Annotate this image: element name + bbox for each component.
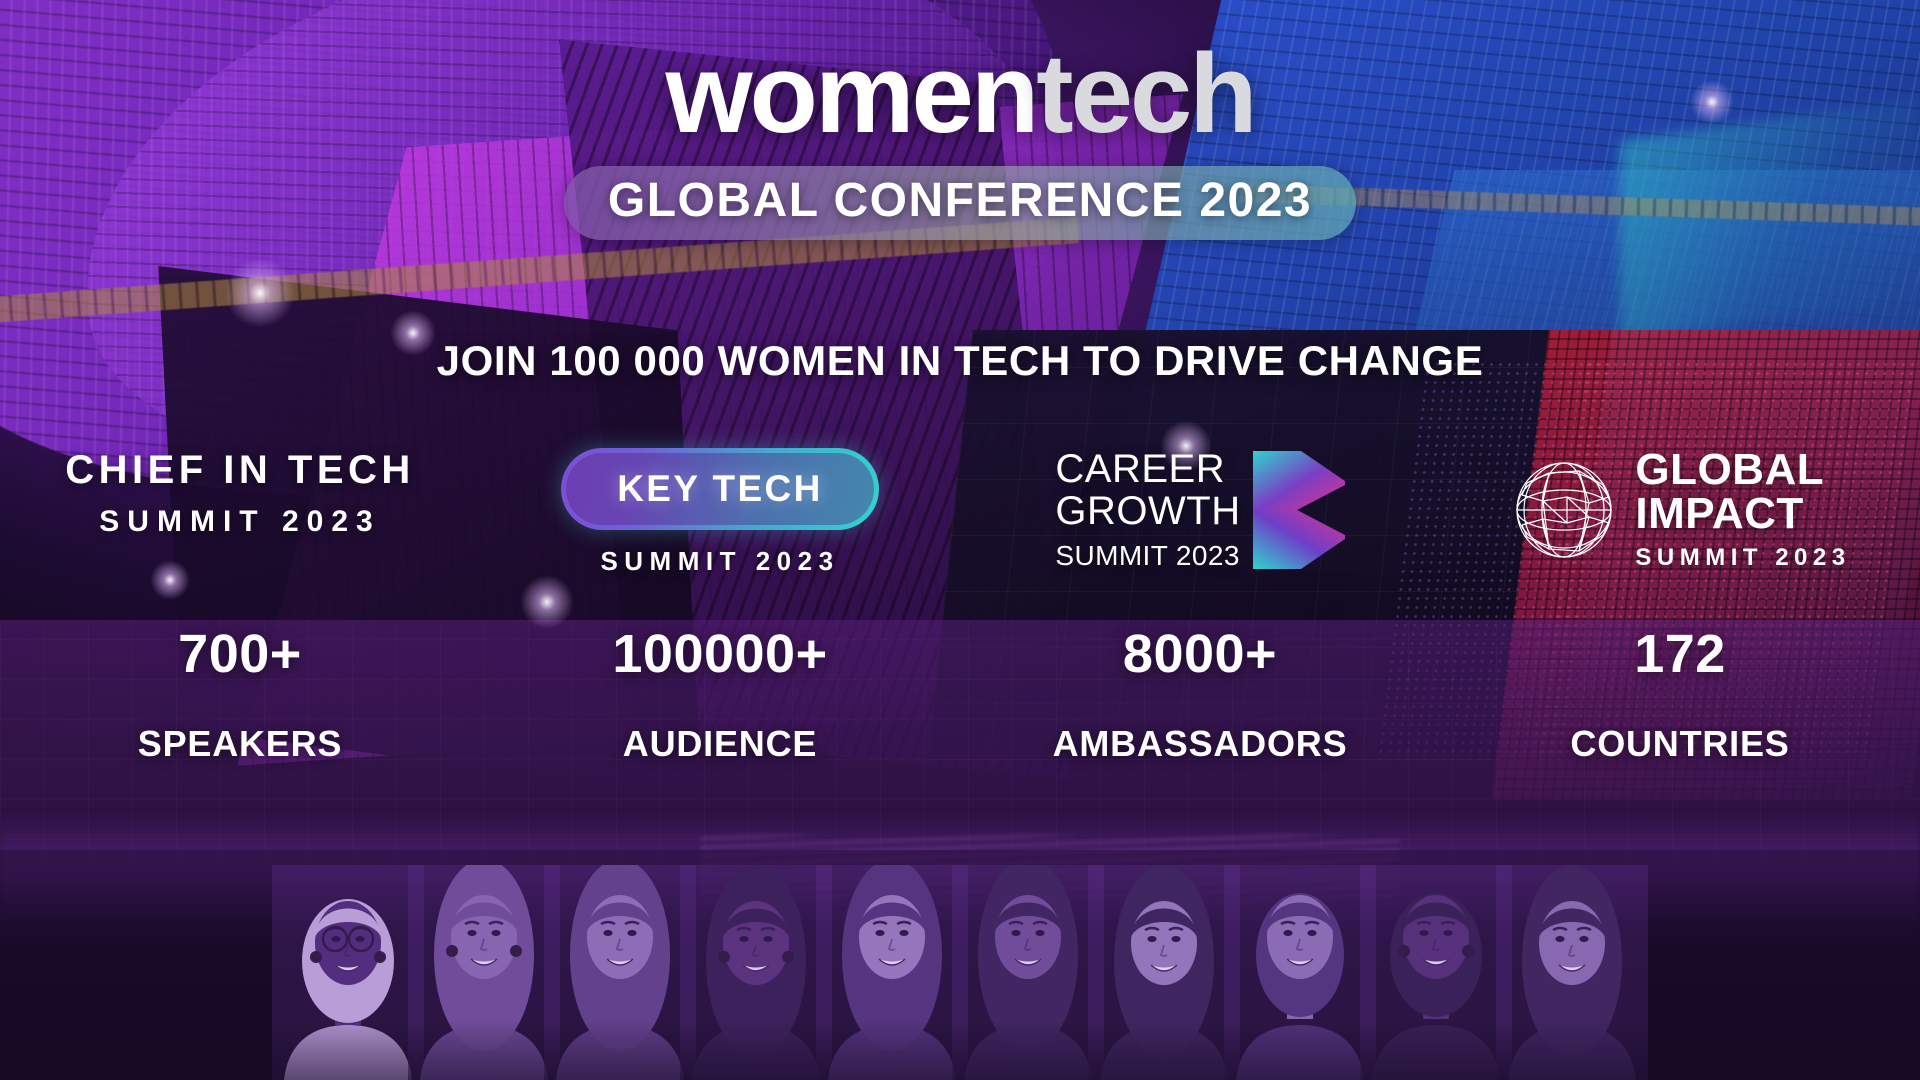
statistics-row: 700+ SPEAKERS 100000+ AUDIENCE 8000+ AMB…: [0, 625, 1920, 764]
career-growth-lockup: CAREER GROWTH SUMMIT 2023: [1055, 448, 1344, 572]
portrait-illustration: [1088, 865, 1240, 1080]
summit-logo-row: CHIEF IN TECH SUMMIT 2023 KEY TECH SUMMI…: [0, 448, 1920, 608]
stat-value: 8000+: [960, 625, 1440, 684]
summit-title: CHIEF IN TECH: [65, 448, 415, 493]
summit-career-growth[interactable]: CAREER GROWTH SUMMIT 2023: [960, 448, 1440, 608]
stat-label: AMBASSADORS: [960, 724, 1440, 764]
wordmark-tech: tech: [1036, 31, 1254, 156]
summit-title: KEY TECH: [617, 468, 823, 510]
stat-audience: 100000+ AUDIENCE: [480, 625, 960, 764]
summit-chief-in-tech[interactable]: CHIEF IN TECH SUMMIT 2023: [0, 448, 480, 608]
speaker-portrait: [1496, 865, 1648, 1080]
conference-title-bar: GLOBAL CONFERENCE 2023: [564, 166, 1356, 240]
stat-ambassadors: 8000+ AMBASSADORS: [960, 625, 1440, 764]
stat-speakers: 700+ SPEAKERS: [0, 625, 480, 764]
portrait-illustration: [272, 865, 424, 1080]
speaker-portrait: [272, 865, 424, 1080]
portrait-illustration: [680, 865, 832, 1080]
summit-key-tech[interactable]: KEY TECH SUMMIT 2023: [480, 448, 960, 608]
portrait-illustration: [408, 865, 560, 1080]
global-impact-lockup: GLOBAL IMPACT SUMMIT 2023: [1509, 448, 1850, 572]
conference-promo-graphic: womentech GLOBAL CONFERENCE 2023 JOIN 10…: [0, 0, 1920, 1080]
portrait-illustration: [952, 865, 1104, 1080]
career-growth-words: CAREER GROWTH SUMMIT 2023: [1055, 448, 1240, 572]
stat-value: 700+: [0, 625, 480, 684]
wordmark-women: women: [665, 31, 1036, 156]
speaker-portrait: [816, 865, 968, 1080]
stat-countries: 172 COUNTRIES: [1440, 625, 1920, 764]
speaker-portrait: [1224, 865, 1376, 1080]
key-tech-pill-outline: KEY TECH: [561, 448, 879, 530]
key-tech-pill-inner: KEY TECH: [566, 453, 874, 525]
summit-title-line2: GROWTH: [1055, 490, 1240, 532]
conference-title-text: GLOBAL CONFERENCE 2023: [608, 175, 1312, 228]
summit-subtitle: SUMMIT 2023: [600, 546, 839, 577]
summit-title-line1: CAREER: [1055, 448, 1240, 490]
portrait-illustration: [544, 865, 696, 1080]
wireframe-globe-icon: [1509, 455, 1619, 565]
stat-label: AUDIENCE: [480, 724, 960, 764]
tagline: JOIN 100 000 WOMEN IN TECH TO DRIVE CHAN…: [0, 337, 1920, 385]
speaker-portrait: [408, 865, 560, 1080]
speaker-portrait: [1360, 865, 1512, 1080]
stat-value: 172: [1440, 625, 1920, 684]
summit-subtitle: SUMMIT 2023: [99, 505, 380, 539]
portrait-illustration: [816, 865, 968, 1080]
portrait-illustration: [1224, 865, 1376, 1080]
speaker-portrait: [952, 865, 1104, 1080]
global-impact-words: GLOBAL IMPACT SUMMIT 2023: [1635, 448, 1850, 572]
chevron-arrow-icon: [1253, 451, 1345, 569]
stat-label: SPEAKERS: [0, 724, 480, 764]
speaker-portrait: [680, 865, 832, 1080]
portrait-illustration: [1360, 865, 1512, 1080]
brand-wordmark: womentech: [0, 38, 1920, 150]
speaker-portrait: [544, 865, 696, 1080]
speaker-portrait-strip: [0, 840, 1920, 1080]
stat-label: COUNTRIES: [1440, 724, 1920, 764]
summit-global-impact[interactable]: GLOBAL IMPACT SUMMIT 2023: [1440, 448, 1920, 608]
summit-subtitle: SUMMIT 2023: [1635, 544, 1850, 572]
stat-value: 100000+: [480, 625, 960, 684]
summit-subtitle: SUMMIT 2023: [1055, 540, 1240, 572]
summit-title-line1: GLOBAL: [1635, 448, 1850, 492]
speaker-portrait: [1088, 865, 1240, 1080]
portrait-illustration: [1496, 865, 1648, 1080]
summit-title-line2: IMPACT: [1635, 492, 1850, 536]
masthead: womentech GLOBAL CONFERENCE 2023: [0, 38, 1920, 240]
